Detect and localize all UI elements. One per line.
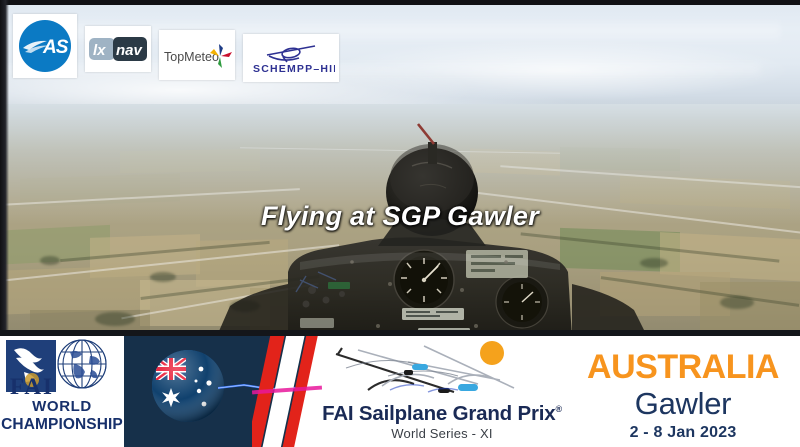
svg-text:TopMeteo: TopMeteo [164, 50, 219, 64]
sponsor-logo-lxnav[interactable]: lx nav [85, 26, 151, 72]
fai-line-world: WORLD [0, 398, 124, 415]
event-country: AUSTRALIA [566, 350, 800, 384]
svg-text:AS: AS [42, 37, 69, 58]
registered-mark: ® [555, 404, 561, 414]
sponsor-logo-as[interactable]: AS [13, 14, 77, 78]
aerial-cockpit-photo: Flying at SGP Gawler AS [0, 0, 800, 340]
sponsor-logo-schempp-hirth[interactable]: SCHEMPP–HIRTH [243, 34, 339, 82]
letterbox-top [0, 0, 800, 5]
glider-glyph [267, 46, 315, 62]
grand-prix-title: FAI Sailplane Grand Prix® [318, 402, 566, 426]
tree-clump [640, 258, 668, 268]
video-frame: Flying at SGP Gawler AS [0, 0, 800, 447]
fai-emblem-icon: FAI [0, 336, 124, 398]
field-patch [560, 147, 680, 171]
topmeteo-logo-icon: TopMeteo [162, 40, 232, 70]
svg-text:SCHEMPP–HIRTH: SCHEMPP–HIRTH [253, 63, 335, 75]
tree-clump [230, 300, 260, 312]
as-logo-icon: AS [17, 18, 73, 74]
fai-acronym: FAI [10, 374, 54, 398]
event-dates: 2 - 8 Jan 2023 [566, 424, 800, 442]
tree-clump [95, 312, 135, 326]
lxnav-logo-icon: lx nav [89, 36, 147, 62]
schempp-hirth-logo-icon: SCHEMPP–HIRTH [247, 39, 335, 77]
svg-text:nav: nav [116, 42, 144, 59]
sailplane-grand-prix-logo[interactable]: FAI Sailplane Grand Prix® World Series -… [318, 336, 566, 447]
tree-clump [150, 272, 176, 282]
glider-trio-icon [328, 340, 528, 402]
australia-flag-sphere-icon [152, 350, 224, 422]
tree-clump [720, 296, 754, 309]
australia-flag-sphere [152, 350, 224, 422]
svg-text:lx: lx [93, 42, 106, 59]
video-title-overlay: Flying at SGP Gawler [0, 201, 800, 232]
fai-globe-icon [58, 340, 106, 388]
grand-prix-title-text: FAI Sailplane Grand Prix [322, 402, 555, 425]
grand-prix-subtitle: World Series - XI [318, 426, 566, 441]
fai-line-championship: CHAMPIONSHIP [0, 416, 124, 434]
sponsor-logo-topmeteo[interactable]: TopMeteo [159, 30, 235, 80]
event-location-block: AUSTRALIA Gawler 2 - 8 Jan 2023 [566, 336, 800, 447]
event-banner: FAI WORLD CHAMPIONSHIP [0, 336, 800, 447]
sponsor-logo-bar: AS lx nav TopMeteo [13, 14, 339, 82]
tree-clump [40, 256, 60, 265]
field-patch [120, 149, 260, 173]
event-city: Gawler [566, 388, 800, 419]
letterbox-left [0, 0, 9, 340]
fai-world-championship-logo[interactable]: FAI WORLD CHAMPIONSHIP [0, 336, 124, 447]
glider-fuselage-accent [412, 364, 478, 391]
